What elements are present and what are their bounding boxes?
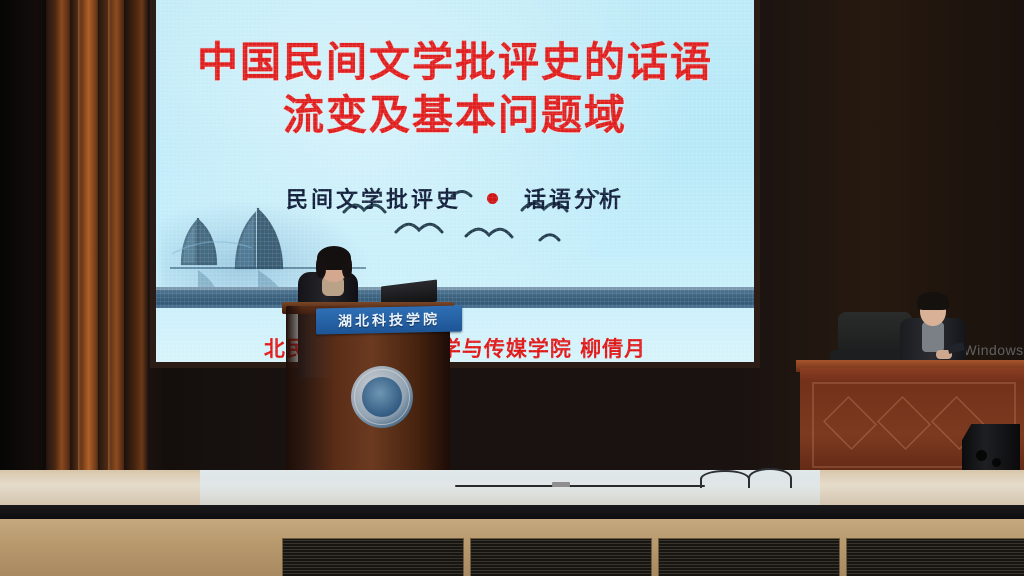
stage-curtain-panel xyxy=(124,0,148,470)
curtain-fold xyxy=(78,0,81,470)
stage-curtain-panel xyxy=(98,0,126,470)
stage-curtain-panel xyxy=(46,0,72,470)
subtitle-right-text: 话语分析 xyxy=(524,182,624,214)
presenter-hair-side xyxy=(342,256,352,278)
speaker-driver-hole xyxy=(976,450,987,461)
university-seal-emblem xyxy=(351,366,413,428)
speaker-driver-hole xyxy=(992,458,1001,467)
seated-attendee-hair xyxy=(917,292,949,310)
emblem-ring xyxy=(354,369,410,425)
screenshot-root: 中国民间文学批评史的话语 流变及基本问题域 民间文学批评史 话语分析 北民族大学… xyxy=(0,0,1024,576)
slide-title-line2: 流变及基本问题域 xyxy=(156,89,754,142)
podium-sign-text: 湖北科技学院 xyxy=(338,309,440,331)
apron-vent-grille xyxy=(470,538,652,576)
seated-attendee-shirt xyxy=(922,322,944,352)
podium-name-plate: 湖北科技学院 xyxy=(316,305,462,334)
water-band-highlight xyxy=(156,287,754,290)
slide-subtitle: 民间文学批评史 话语分析 xyxy=(156,182,754,214)
presenter-credit-line: 北民族大学大学文学与传媒学院 柳倩月 xyxy=(156,333,754,362)
floor-tape-marker xyxy=(552,482,570,487)
curtain-fold xyxy=(108,0,111,470)
stage-curtain-panel xyxy=(70,0,100,470)
floor-cable xyxy=(455,485,705,487)
bullet-dot-icon xyxy=(487,193,498,204)
subtitle-left-text: 民间文学批评史 xyxy=(286,182,461,214)
presenter-hair-side xyxy=(316,256,326,278)
apron-vent-grille xyxy=(658,538,840,576)
slide-title: 中国民间文学批评史的话语 流变及基本问题域 xyxy=(156,36,754,142)
apron-vent-grille xyxy=(846,538,1024,576)
floor-cable-loop xyxy=(748,468,792,488)
floor-cable-loop xyxy=(700,470,750,488)
slide-title-line1: 中国民间文学批评史的话语 xyxy=(197,38,713,86)
apron-vent-grille xyxy=(282,538,464,576)
